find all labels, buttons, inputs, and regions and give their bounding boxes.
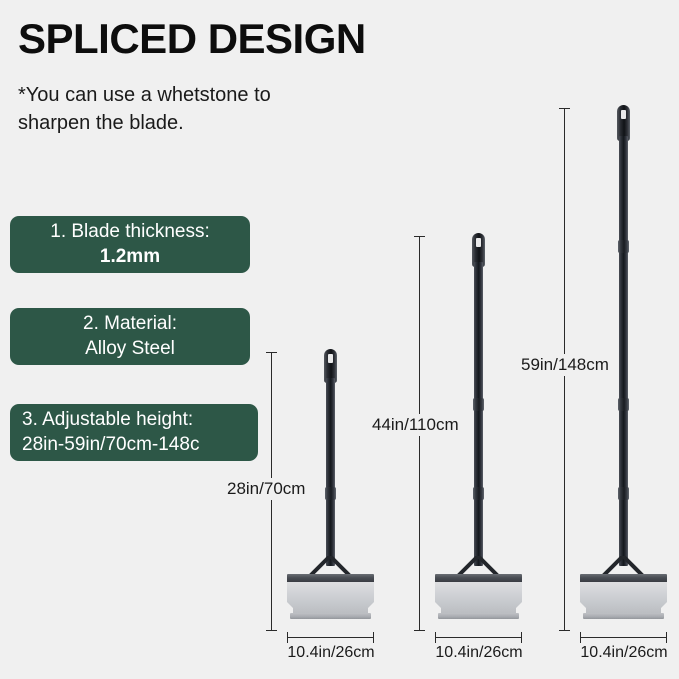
pole-joint-collar xyxy=(618,240,629,253)
blade-plate xyxy=(434,582,523,616)
pole-joint-collar xyxy=(618,487,629,500)
width-dim-cap-right xyxy=(521,632,522,643)
infographic-canvas: SPLICED DESIGN *You can use a whetstone … xyxy=(0,0,679,679)
page-subtitle: *You can use a whetstone to sharpen the … xyxy=(18,82,348,137)
feature-badge-material: 2. Material: Alloy Steel xyxy=(10,308,250,365)
feature-badge-line1: 1. Blade thickness: xyxy=(50,220,209,244)
pole-joint-collar xyxy=(325,487,336,500)
blade-cutting-edge xyxy=(438,613,519,619)
width-dim-line xyxy=(435,637,522,638)
pole-shaft xyxy=(326,378,335,566)
pole-shaft xyxy=(474,262,483,566)
width-dim-label: 10.4in/26cm xyxy=(276,644,386,662)
feature-badge-line2: Alloy Steel xyxy=(85,337,175,361)
handle-grip-slot-icon xyxy=(621,110,626,119)
height-dim-label: 28in/70cm xyxy=(224,478,308,500)
height-dim-label: 44in/110cm xyxy=(369,414,462,436)
pole-joint-collar xyxy=(473,398,484,411)
height-dim-cap-bottom xyxy=(414,630,425,631)
feature-badge-line2: 28in-59in/70cm-148c xyxy=(22,433,199,457)
pole-joint-collar xyxy=(618,398,629,411)
feature-badge-line1: 3. Adjustable height: xyxy=(22,408,193,432)
width-dim-line xyxy=(580,637,667,638)
width-dim-label: 10.4in/26cm xyxy=(569,644,679,662)
feature-badge-adjustable-height: 3. Adjustable height: 28in-59in/70cm-148… xyxy=(10,404,258,461)
page-title: SPLICED DESIGN xyxy=(18,18,366,60)
blade-cutting-edge xyxy=(290,613,371,619)
feature-badge-blade-thickness: 1. Blade thickness: 1.2mm xyxy=(10,216,250,273)
feature-badge-line1: 2. Material: xyxy=(83,312,177,336)
height-dim-cap-bottom xyxy=(559,630,570,631)
width-dim-cap-right xyxy=(666,632,667,643)
pole-shaft xyxy=(619,136,628,566)
handle-grip-slot-icon xyxy=(476,238,481,247)
width-dim-cap-right xyxy=(373,632,374,643)
width-dim-line xyxy=(287,637,374,638)
handle-grip-slot-icon xyxy=(328,354,333,363)
pole-joint-collar xyxy=(473,487,484,500)
height-dim-label: 59in/148cm xyxy=(518,354,612,376)
height-dim-cap-bottom xyxy=(266,630,277,631)
blade-plate xyxy=(579,582,668,616)
blade-plate xyxy=(286,582,375,616)
feature-badge-line2: 1.2mm xyxy=(100,245,160,269)
blade-cutting-edge xyxy=(583,613,664,619)
width-dim-label: 10.4in/26cm xyxy=(424,644,534,662)
